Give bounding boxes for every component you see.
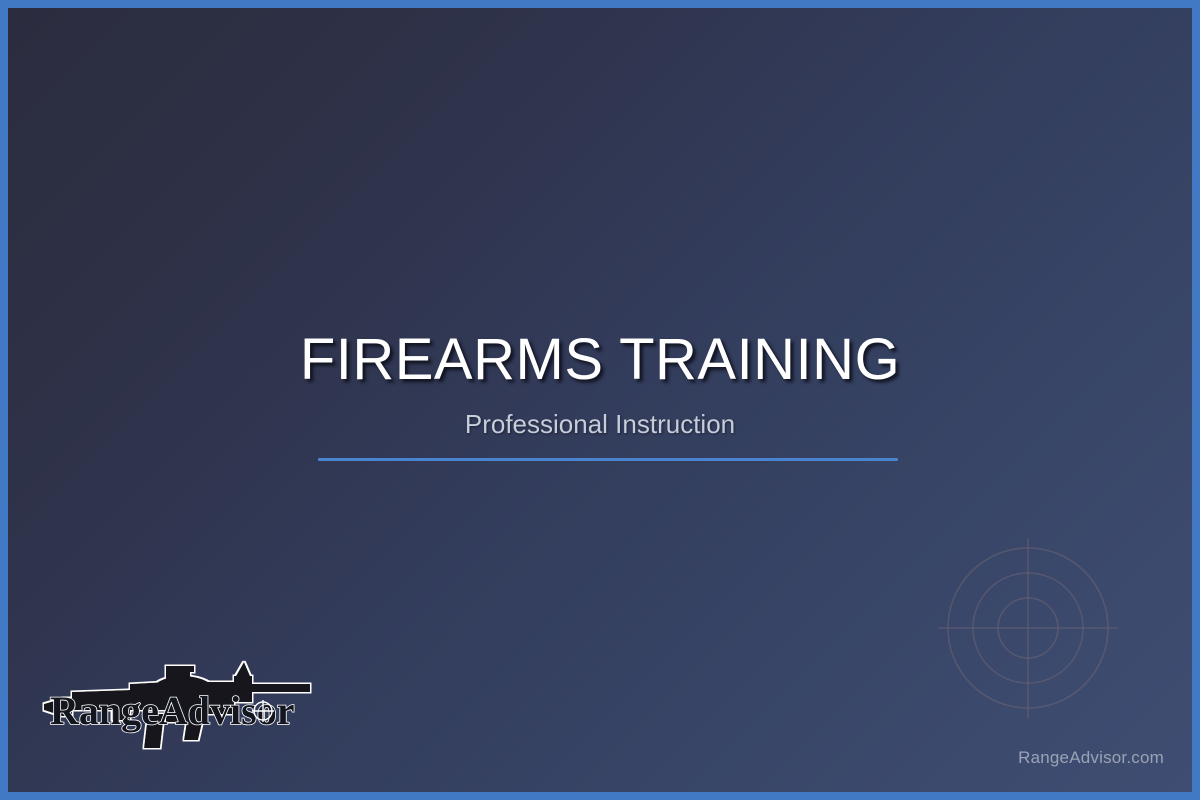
title-block: FIREARMS TRAINING Professional Instructi…	[8, 330, 1192, 440]
footer-url: RangeAdvisor.com	[1018, 748, 1164, 768]
target-crosshair-icon	[930, 530, 1126, 726]
page-subtitle: Professional Instruction	[8, 409, 1192, 440]
title-slide: FIREARMS TRAINING Professional Instructi…	[0, 0, 1200, 800]
page-title: FIREARMS TRAINING	[8, 330, 1192, 391]
accent-divider	[318, 458, 898, 461]
brand-logo: RangeAdvisor	[38, 658, 316, 754]
